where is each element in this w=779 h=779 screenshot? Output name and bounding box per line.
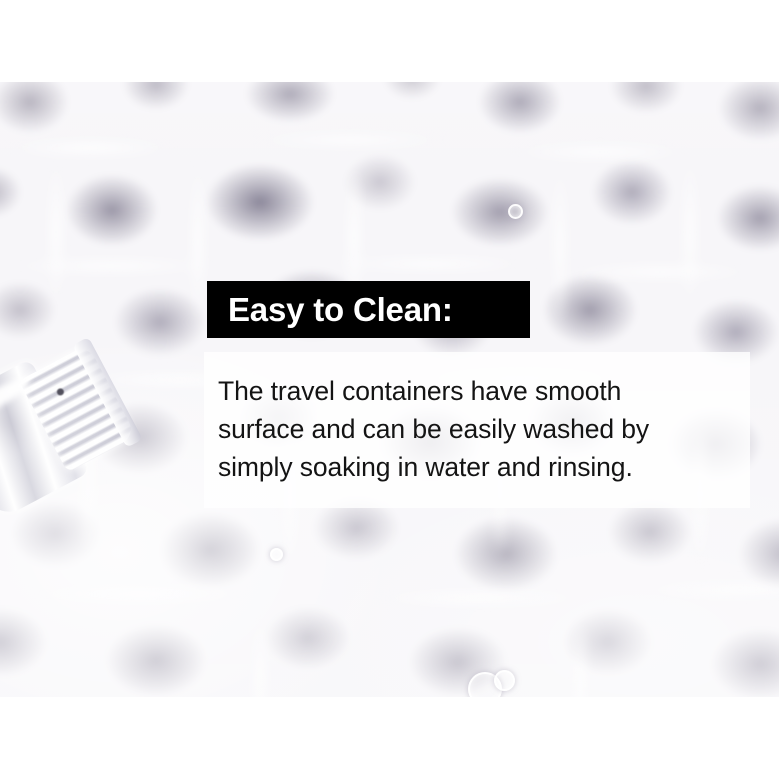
- headline-text: Easy to Clean:: [228, 293, 453, 326]
- description-text: The travel containers have smooth surfac…: [218, 372, 734, 486]
- description-panel: The travel containers have smooth surfac…: [204, 352, 750, 508]
- water-bubble-tiny-mid: [270, 548, 283, 561]
- headline-banner: Easy to Clean:: [207, 281, 530, 338]
- image-canvas: Easy to Clean: The travel containers hav…: [0, 0, 779, 779]
- letterbox-band-top: [0, 0, 779, 82]
- water-bubble-tiny-top: [508, 204, 523, 219]
- water-bubble-small: [494, 670, 515, 691]
- letterbox-band-bottom: [0, 697, 779, 779]
